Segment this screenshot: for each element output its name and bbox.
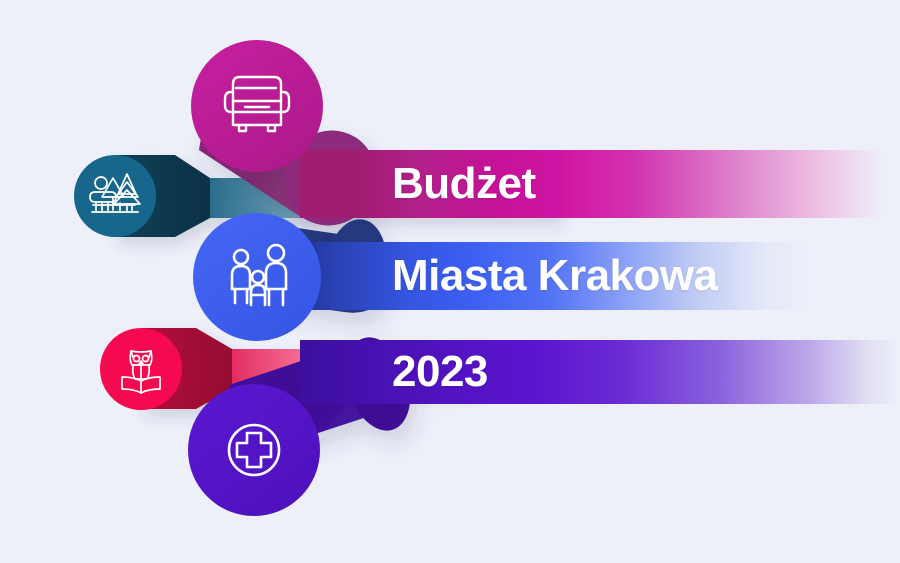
title-text-budzet: Budżet (300, 162, 536, 206)
title-bar-miasta-krakowa: Miasta Krakowa (300, 242, 815, 310)
poster-canvas: Budżet Miasta Krakowa 2023 (0, 0, 900, 563)
badge-health-circle[interactable] (188, 384, 320, 516)
title-text-miasta-krakowa: Miasta Krakowa (300, 254, 718, 298)
badge-family[interactable] (193, 213, 321, 341)
badge-family-circle[interactable] (193, 213, 321, 341)
title-text-year: 2023 (300, 350, 488, 394)
badge-environment-circle[interactable] (74, 155, 156, 237)
title-bar-year: 2023 (300, 340, 900, 404)
title-bar-budzet: Budżet (300, 150, 900, 218)
badge-transport[interactable] (191, 40, 323, 172)
badge-environment[interactable] (74, 155, 156, 237)
badge-health[interactable] (188, 384, 320, 516)
badge-education[interactable] (100, 328, 182, 410)
